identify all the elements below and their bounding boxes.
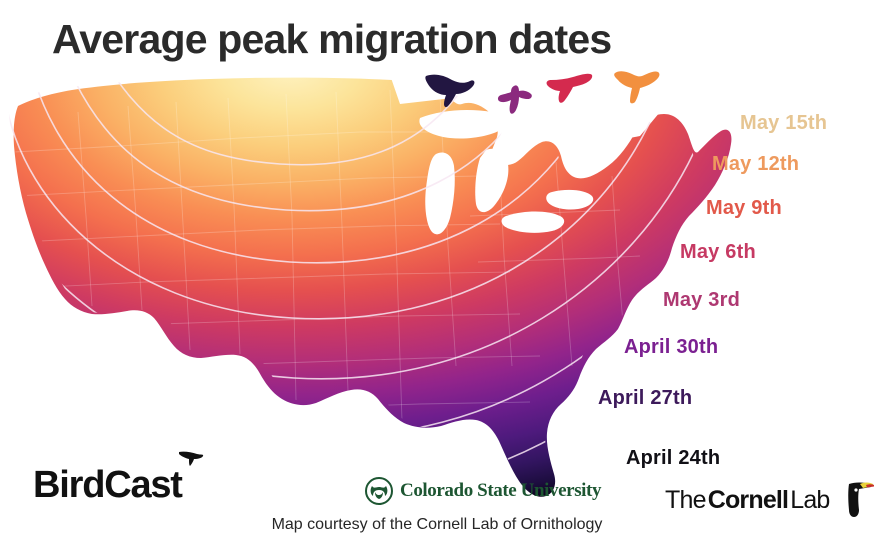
bird-silhouette-4 [613, 68, 661, 104]
map-gradient-layer [14, 78, 732, 497]
bird-silhouette-1 [424, 70, 476, 108]
bird-silhouette-3 [546, 72, 594, 106]
migration-map-infographic: Average peak migration dates [0, 0, 874, 551]
cornell-lab-lab: Lab [790, 486, 829, 515]
ram-head-icon [365, 477, 393, 505]
date-label-may-3: May 3rd [663, 289, 740, 312]
date-label-may-6: May 6th [680, 241, 756, 264]
woodpecker-head-icon [835, 480, 874, 520]
date-label-may-12: May 12th [712, 153, 799, 176]
page-title: Average peak migration dates [52, 16, 611, 63]
birdcast-logo[interactable]: BirdCast [33, 466, 182, 504]
cornell-lab-the: The [665, 486, 706, 515]
colorado-state-university-logo[interactable]: Colorado State University [365, 477, 601, 505]
date-label-may-15: May 15th [740, 112, 827, 135]
bird-silhouette-icon [178, 450, 204, 466]
date-label-april-24: April 24th [626, 447, 720, 470]
cornell-lab-logo[interactable]: The Cornell Lab [665, 480, 874, 520]
cornell-lab-cornell: Cornell [708, 486, 789, 515]
date-label-april-30: April 30th [624, 336, 718, 359]
date-label-may-9: May 9th [706, 197, 782, 220]
birdcast-logo-text: BirdCast [33, 466, 182, 504]
bird-silhouette-2 [497, 84, 533, 116]
colorado-state-university-text: Colorado State University [400, 480, 601, 502]
date-label-april-27: April 27th [598, 387, 692, 410]
map-caption: Map courtesy of the Cornell Lab of Ornit… [0, 516, 874, 534]
